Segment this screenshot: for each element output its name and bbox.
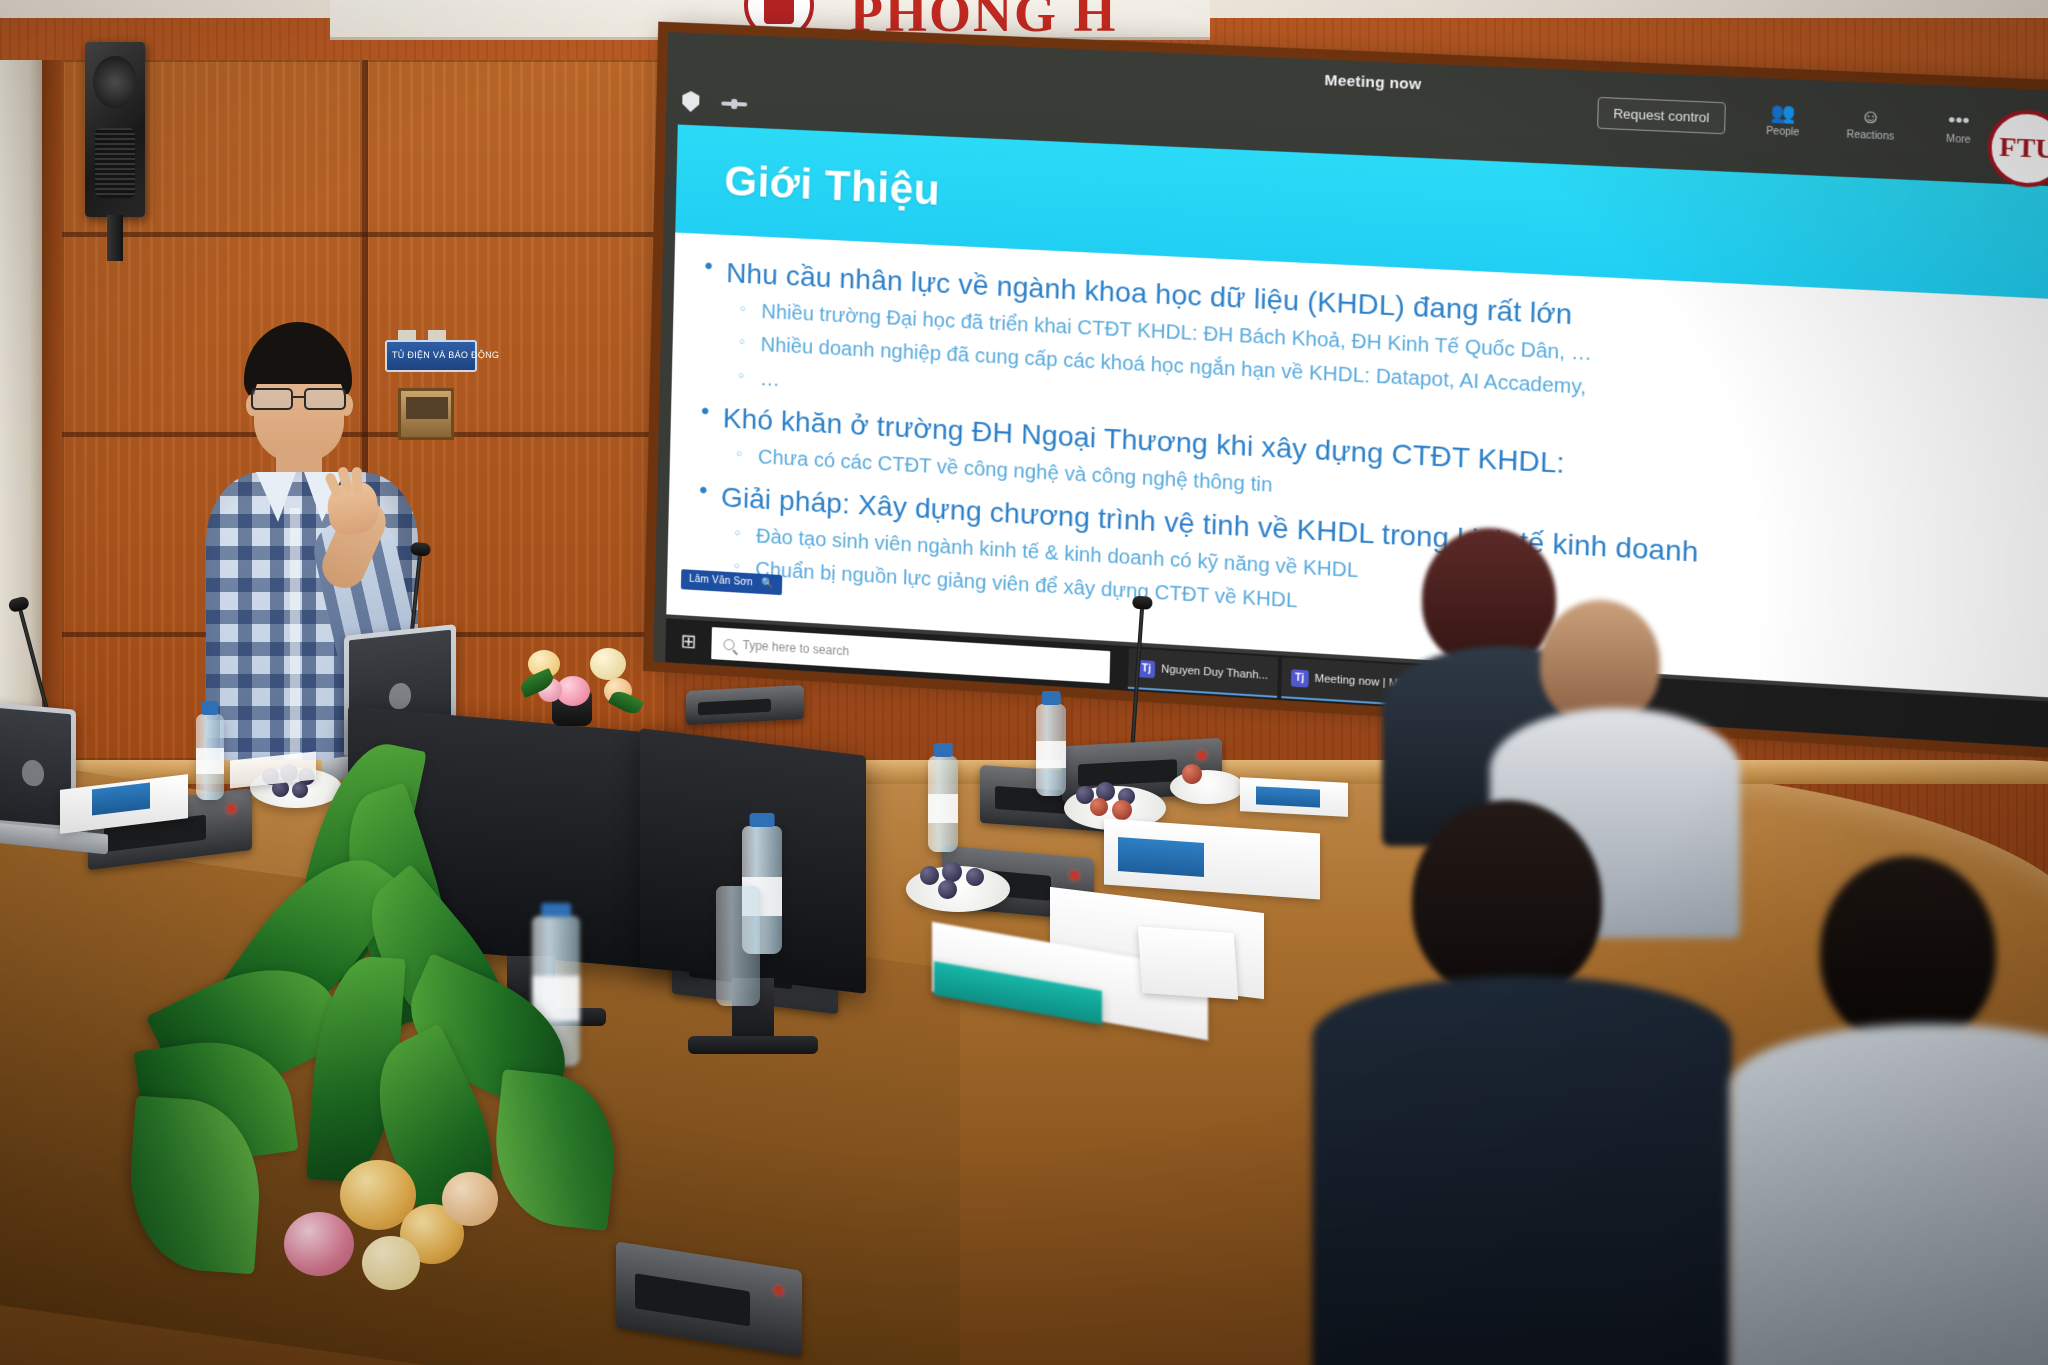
water-bottle bbox=[1036, 704, 1066, 796]
glasses-bridge bbox=[293, 396, 304, 398]
flower-bloom bbox=[442, 1172, 498, 1226]
people-icon: 👥 bbox=[1753, 102, 1813, 125]
teams-left-icons bbox=[682, 91, 747, 115]
speaker-mount bbox=[107, 215, 123, 261]
fruit bbox=[1182, 764, 1202, 784]
audience-head bbox=[1540, 600, 1660, 726]
rolled-paper bbox=[1138, 926, 1238, 999]
audience-body bbox=[1730, 1024, 2048, 1365]
grape bbox=[938, 880, 957, 899]
audience-head bbox=[1412, 800, 1602, 1000]
shirt-placket bbox=[290, 508, 300, 758]
audience-head bbox=[1820, 856, 1996, 1046]
fruit bbox=[1112, 800, 1132, 820]
search-icon: 🔍 bbox=[762, 578, 775, 590]
meeting-title: Meeting now bbox=[1324, 72, 1421, 93]
taskbar-item-teams-thanh[interactable]: Tj Nguyen Duy Thanh... bbox=[1128, 648, 1278, 698]
finger bbox=[352, 467, 363, 493]
glasses-lens bbox=[251, 388, 293, 410]
room-banner-text: PHÒNG H bbox=[850, 0, 1118, 40]
more-label: More bbox=[1928, 133, 1989, 147]
presenter-name: Lâm Văn Sơn bbox=[689, 574, 753, 589]
powerpoint-slide: Giới Thiệu FTU Nhu cầu nhân lực về ngành… bbox=[666, 125, 2048, 700]
printed-booklet bbox=[1256, 786, 1320, 807]
university-seal-icon bbox=[744, 0, 814, 40]
people-label: People bbox=[1753, 125, 1813, 139]
projected-teams-screen: Meeting now Request control 👥 People ☺ R… bbox=[653, 32, 2048, 750]
printed-booklet bbox=[1118, 837, 1204, 877]
room-banner: PHÒNG H bbox=[330, 0, 1210, 40]
wall-speaker bbox=[85, 42, 145, 217]
grape bbox=[942, 862, 962, 882]
request-control-button[interactable]: Request control bbox=[1597, 97, 1726, 134]
more-icon: ••• bbox=[1929, 110, 1990, 133]
teams-controls: Request control 👥 People ☺ Reactions •••… bbox=[1597, 94, 2048, 154]
pin-icon[interactable] bbox=[721, 98, 747, 109]
search-icon bbox=[723, 638, 734, 650]
reactions-icon: ☺ bbox=[1841, 106, 1902, 129]
glasses-lens bbox=[304, 388, 346, 410]
flower-bloom bbox=[362, 1236, 420, 1290]
grape bbox=[966, 868, 984, 886]
more-button[interactable]: ••• More bbox=[1928, 110, 1989, 147]
flower bbox=[590, 648, 626, 680]
search-placeholder: Type here to search bbox=[742, 638, 849, 659]
start-button[interactable]: ⊞ bbox=[665, 629, 711, 655]
reactions-label: Reactions bbox=[1840, 129, 1900, 143]
teams-icon: Tj bbox=[1291, 669, 1309, 687]
door-edge bbox=[42, 60, 62, 760]
foreground-plant bbox=[150, 760, 770, 1365]
fruit bbox=[1090, 798, 1108, 816]
grape bbox=[920, 866, 939, 885]
slide-title: Giới Thiệu bbox=[724, 157, 941, 215]
reactions-button[interactable]: ☺ Reactions bbox=[1840, 106, 1901, 143]
audience-body bbox=[1312, 976, 1732, 1365]
people-button[interactable]: 👥 People bbox=[1753, 102, 1814, 139]
plant-leaf bbox=[487, 1069, 622, 1231]
water-bottle bbox=[928, 756, 958, 852]
presenter-glasses bbox=[246, 388, 354, 410]
flower-bloom bbox=[284, 1212, 354, 1276]
conference-room-photo: PHÒNG H TỦ ĐIỆN VÀ BÁO ĐỘNG Meeting now … bbox=[0, 0, 2048, 1365]
shield-icon[interactable] bbox=[682, 91, 699, 113]
slide-body: Nhu cầu nhân lực về ngành khoa học dữ li… bbox=[693, 244, 2048, 661]
microphone-base bbox=[686, 685, 804, 725]
taskbar-item-label: Nguyen Duy Thanh... bbox=[1161, 663, 1268, 682]
